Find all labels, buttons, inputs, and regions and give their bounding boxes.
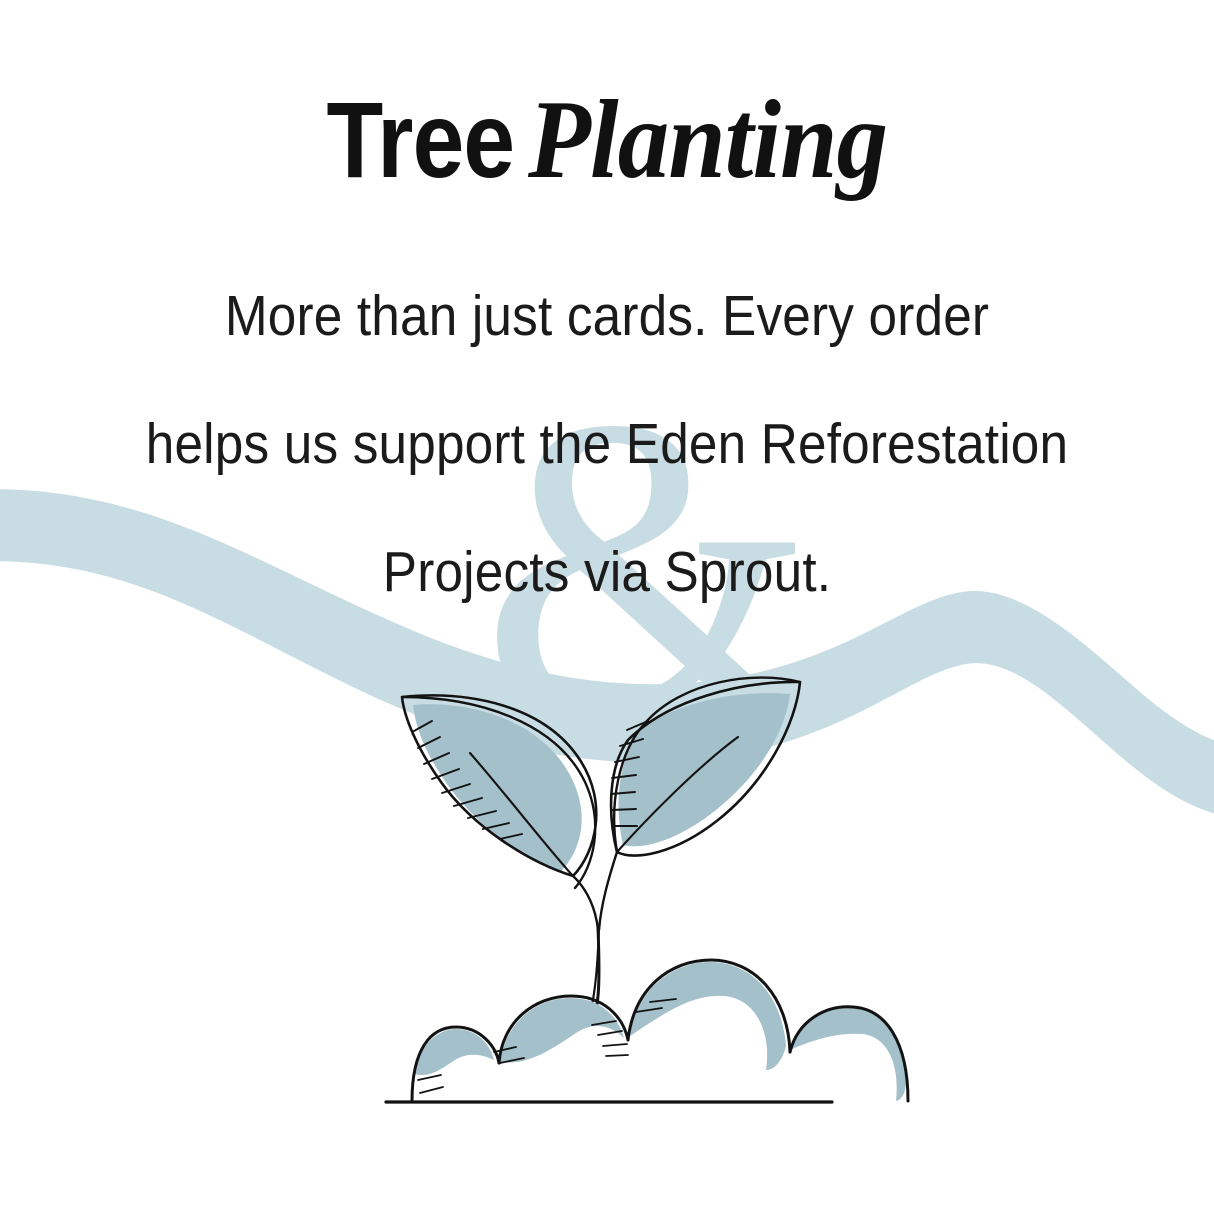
soil-shading [414,962,906,1101]
leaf-right [611,678,800,856]
stem [573,852,617,1019]
soil-mound [412,960,908,1101]
sprout-illustration [0,0,1214,1214]
poster-canvas: & TreePlanting More than just cards. Eve… [0,0,1214,1214]
leaf-left [402,695,596,888]
